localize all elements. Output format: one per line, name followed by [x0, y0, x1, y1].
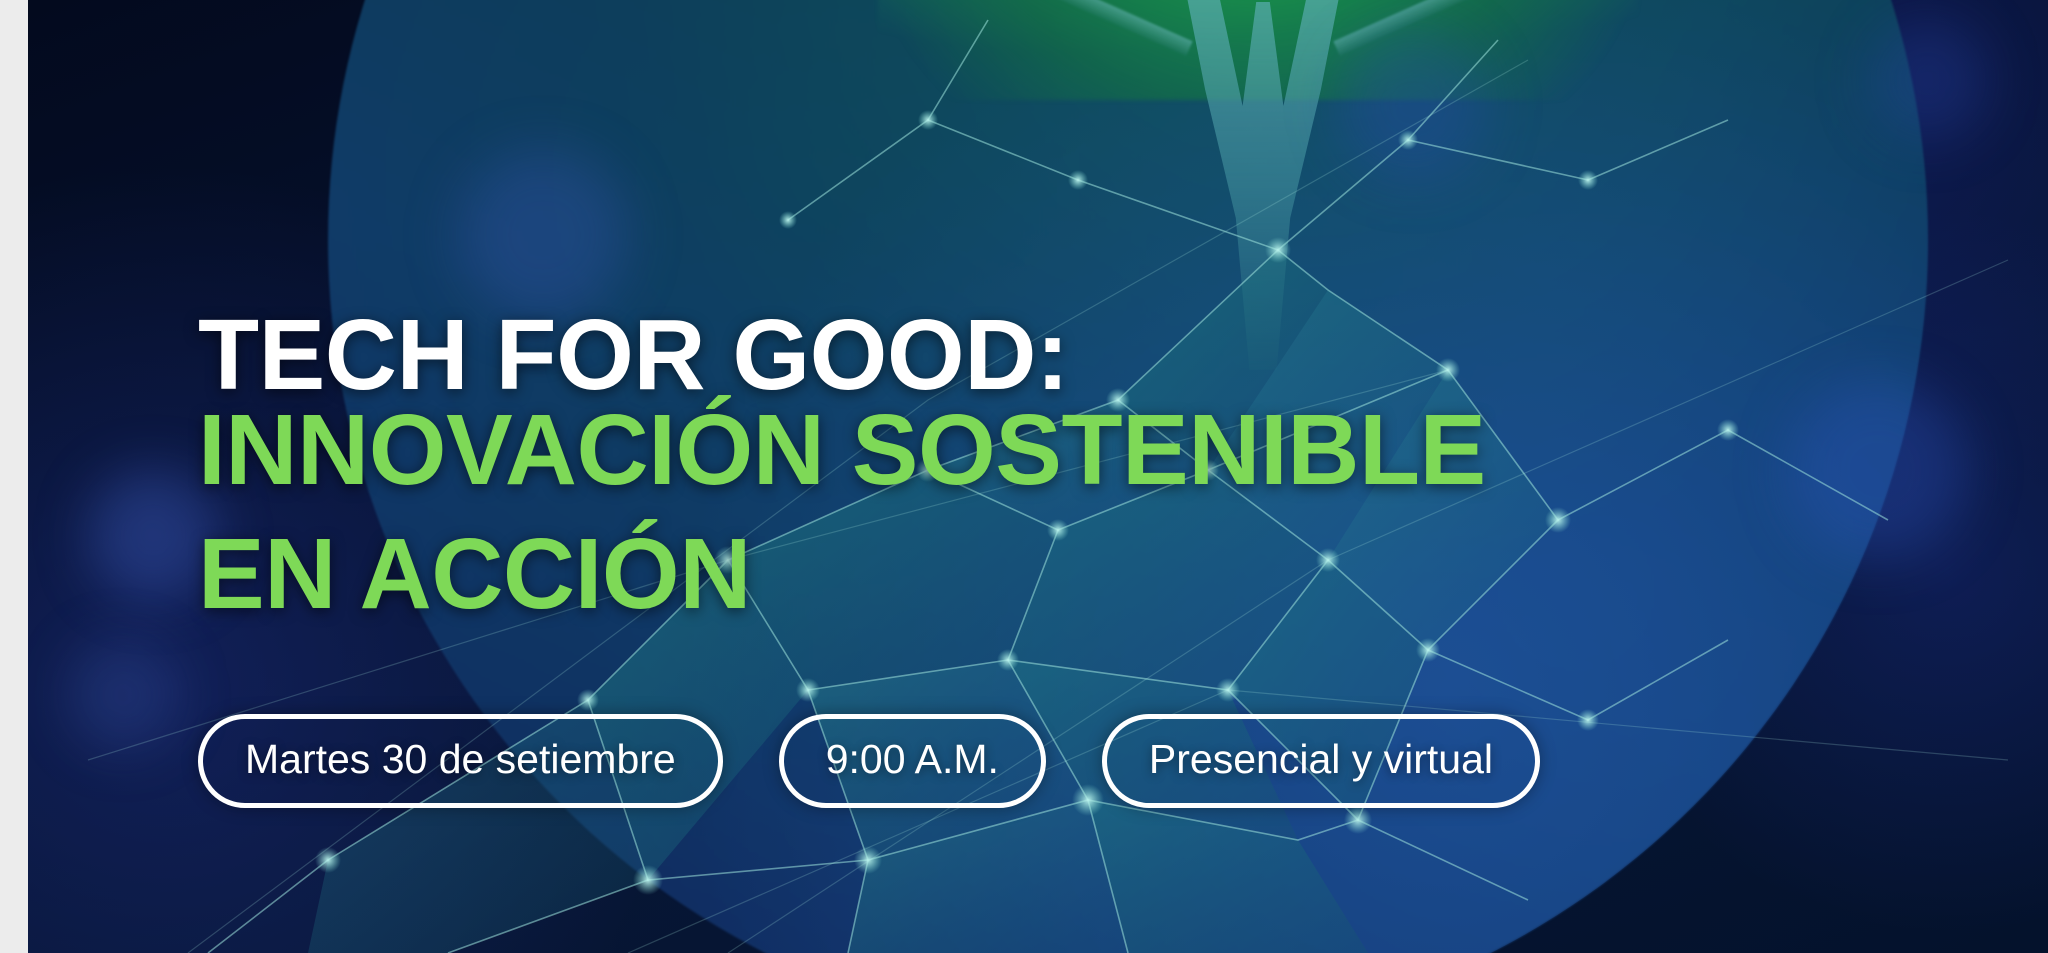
- banner-content: TECH FOR GOOD: INNOVACIÓN SOSTENIBLE EN …: [198, 0, 1998, 953]
- pill-modality[interactable]: Presencial y virtual: [1102, 714, 1540, 808]
- pill-time[interactable]: 9:00 A.M.: [779, 714, 1046, 808]
- title-line-2: INNOVACIÓN SOSTENIBLE: [198, 400, 1958, 500]
- title-line-1: TECH FOR GOOD:: [198, 305, 1958, 405]
- screenshot-root: TECH FOR GOOD: INNOVACIÓN SOSTENIBLE EN …: [0, 0, 2048, 953]
- pill-date[interactable]: Martes 30 de setiembre: [198, 714, 723, 808]
- left-gutter-strip: [0, 0, 28, 953]
- info-pill-group: Martes 30 de setiembre 9:00 A.M. Presenc…: [198, 714, 1540, 808]
- title-line-3: EN ACCIÓN: [198, 524, 1958, 624]
- event-promo-banner: TECH FOR GOOD: INNOVACIÓN SOSTENIBLE EN …: [28, 0, 2048, 953]
